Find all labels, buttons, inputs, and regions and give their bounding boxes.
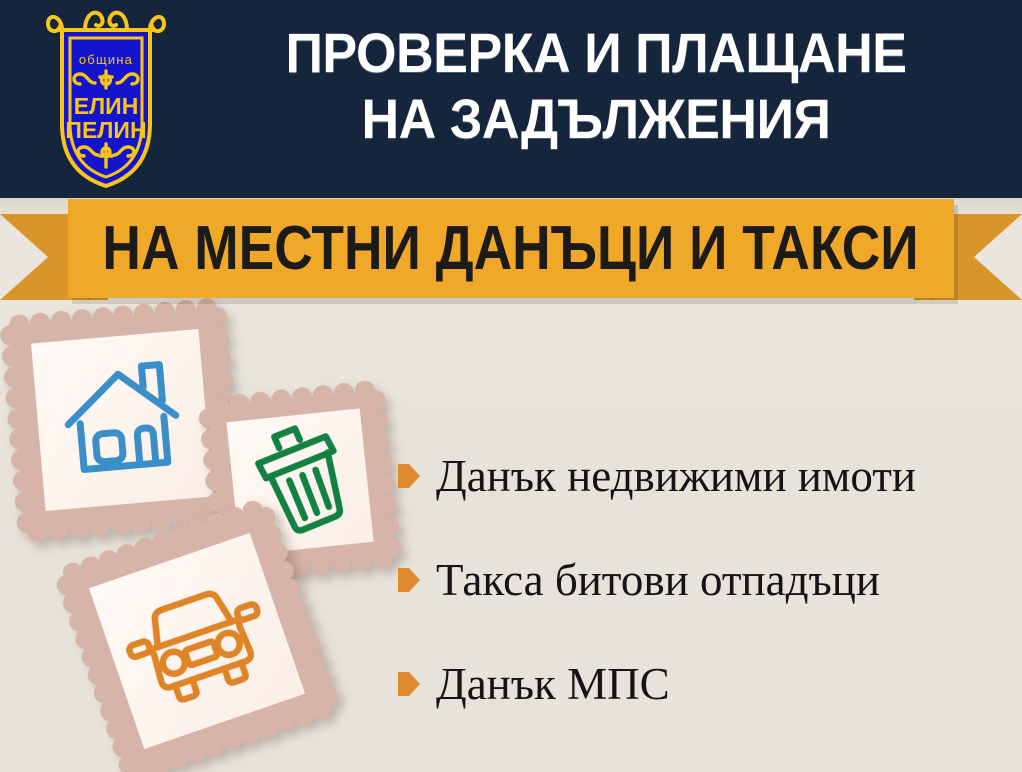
header-banner: община ЕЛИН ПЕЛИН [0, 0, 1022, 198]
tax-type-list: Данък недвижими имоти Такса битови отпад… [398, 424, 1008, 736]
page-title-line2: НА ЗАДЪЛЖЕНИЯ [215, 86, 978, 152]
poster-canvas: община ЕЛИН ПЕЛИН [0, 0, 1022, 772]
stamp-perforation [367, 410, 389, 432]
page-title: ПРОВЕРКА И ПЛАЩАНЕ НА ЗАДЪЛЖЕНИЯ [215, 20, 978, 152]
stamp-perforation [210, 348, 232, 370]
stamp-perforation [371, 452, 393, 474]
list-item[interactable]: Такса битови отпадъци [398, 528, 1008, 632]
list-item[interactable]: Данък МПС [398, 632, 1008, 736]
bullet-arrow-icon [398, 568, 420, 592]
stamp-perforation [376, 494, 398, 516]
crest-name-line2: ПЕЛИН [65, 117, 146, 143]
stamp-perforation [350, 549, 372, 571]
bullet-arrow-icon [398, 672, 420, 696]
subtitle-ribbon: НА МЕСТНИ ДАНЪЦИ И ТАКСИ [0, 196, 1022, 308]
stamp-perforation [212, 369, 234, 391]
stamp-perforation [89, 515, 111, 537]
stamp-perforation [68, 517, 90, 539]
stamp-perforation [308, 553, 330, 575]
crest-municipality-word: община [79, 52, 133, 67]
stamp-perforation [374, 473, 396, 495]
stamp-perforation [329, 551, 351, 573]
ribbon-band: НА МЕСТНИ ДАНЪЦИ И ТАКСИ [68, 199, 954, 298]
page-title-line1: ПРОВЕРКА И ПЛАЩАНЕ [215, 20, 978, 86]
municipality-crest-logo: община ЕЛИН ПЕЛИН [40, 4, 172, 190]
stamp-perforation [110, 514, 132, 536]
list-item-label: Данък МПС [436, 662, 670, 707]
list-item-label: Данък недвижими имоти [436, 454, 916, 499]
bullet-arrow-icon [398, 464, 420, 488]
stamp-perforation [369, 431, 391, 453]
list-item[interactable]: Данък недвижими имоти [398, 424, 1008, 528]
list-item-label: Такса битови отпадъци [436, 558, 880, 603]
crest-name-line1: ЕЛИН [74, 93, 139, 119]
stamp-perforation [378, 514, 400, 536]
ribbon-subtitle-text: НА МЕСТНИ ДАНЪЦИ И ТАКСИ [103, 218, 919, 280]
